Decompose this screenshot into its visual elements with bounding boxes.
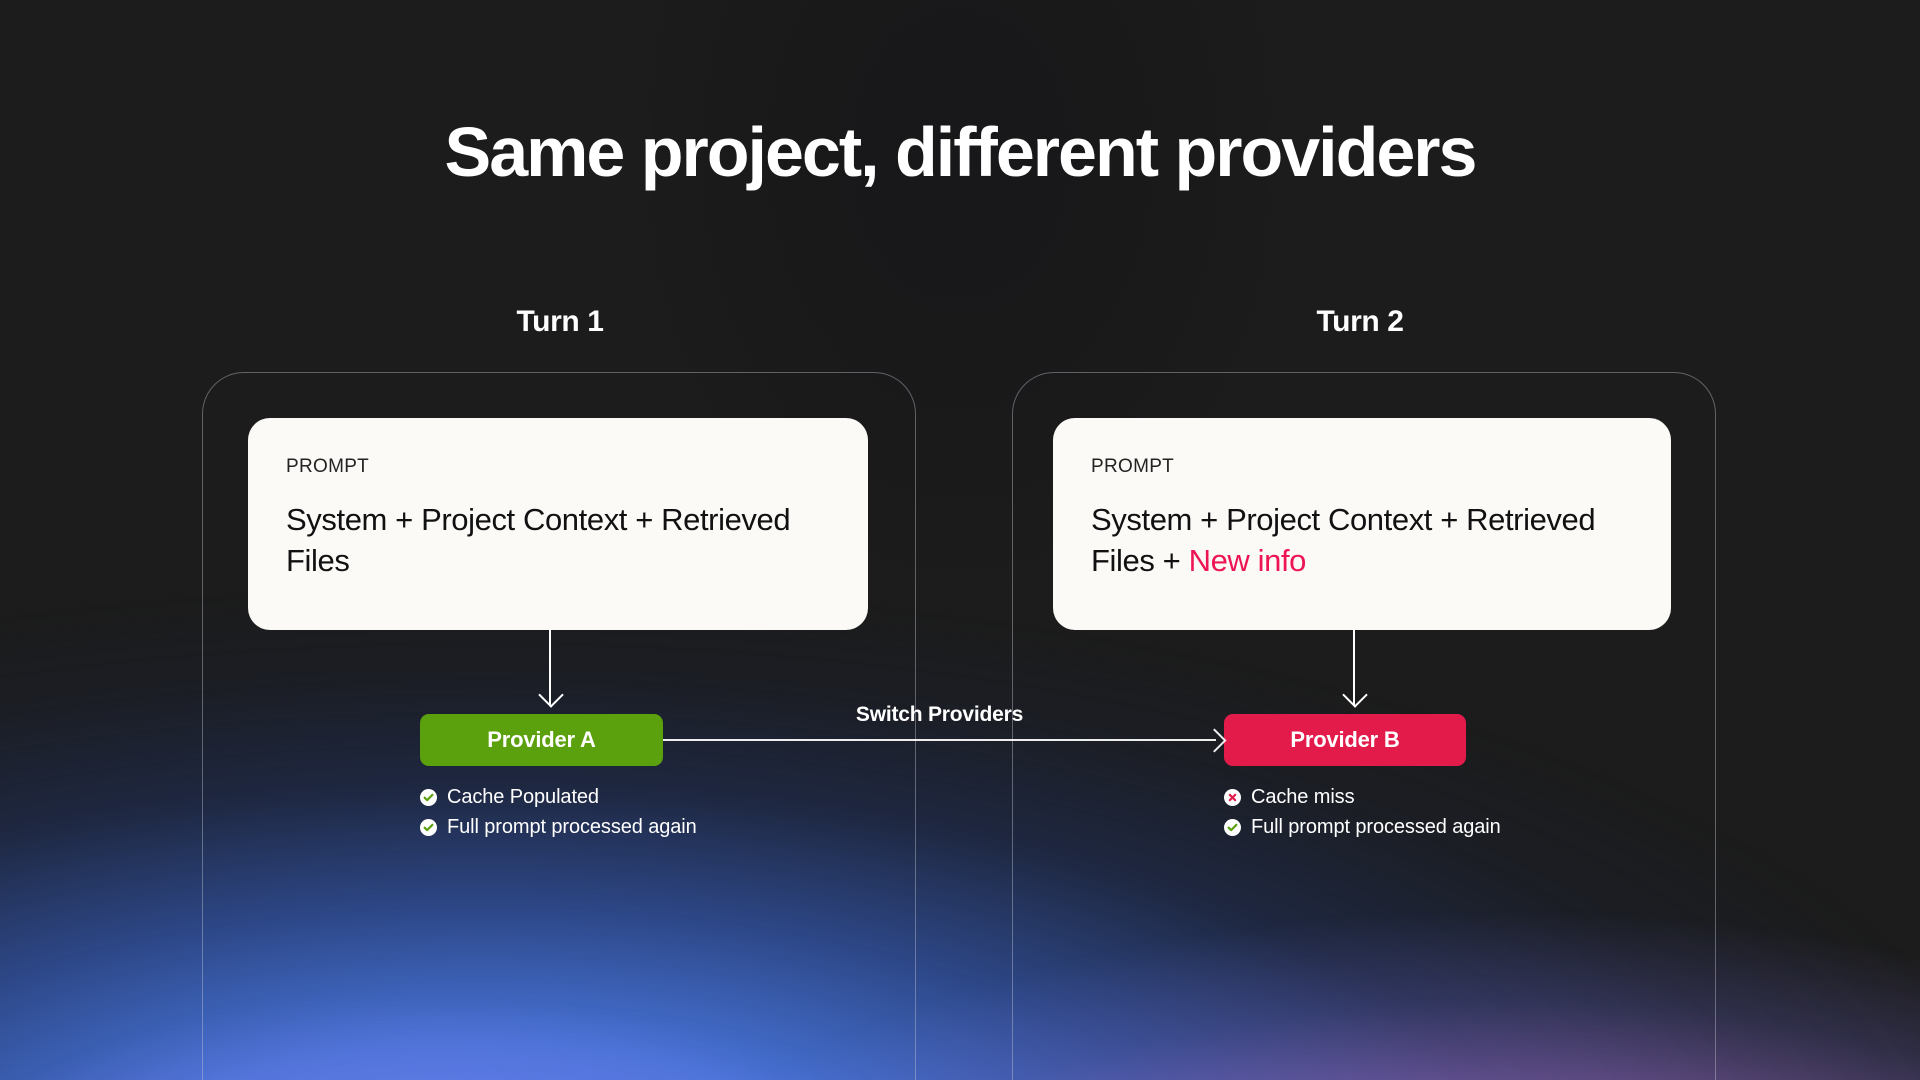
check-item: Full prompt processed again xyxy=(420,816,697,839)
prompt-text-1: System + Project Context + Retrieved Fil… xyxy=(286,500,830,582)
page-title: Same project, different providers xyxy=(0,112,1920,192)
check-item: Full prompt processed again xyxy=(1224,816,1501,839)
switch-providers-line xyxy=(663,739,1216,741)
prompt-card-1: PROMPT System + Project Context + Retrie… xyxy=(248,418,868,630)
prompt-kicker-1: PROMPT xyxy=(286,456,830,478)
check-circle-icon xyxy=(420,819,437,836)
turn-label-1: Turn 1 xyxy=(200,305,920,339)
prompt-kicker-2: PROMPT xyxy=(1091,456,1633,478)
prompt-text-body-1: System + Project Context + Retrieved Fil… xyxy=(286,502,790,578)
provider-b-button[interactable]: Provider B xyxy=(1224,714,1466,766)
check-item: Cache Populated xyxy=(420,786,697,809)
check-circle-icon xyxy=(420,789,437,806)
turn-label-2: Turn 2 xyxy=(1000,305,1720,339)
check-item-label: Cache miss xyxy=(1251,786,1354,809)
prompt-text-highlight-2: New info xyxy=(1189,543,1306,578)
checklist-turn-1: Cache Populated Full prompt processed ag… xyxy=(420,786,697,846)
x-circle-icon xyxy=(1224,789,1241,806)
provider-b-label: Provider B xyxy=(1290,727,1399,753)
check-item-label: Cache Populated xyxy=(447,786,599,809)
check-item-label: Full prompt processed again xyxy=(447,816,697,839)
prompt-text-2: System + Project Context + Retrieved Fil… xyxy=(1091,500,1633,582)
check-item: Cache miss xyxy=(1224,786,1501,809)
provider-a-button[interactable]: Provider A xyxy=(420,714,663,766)
check-circle-icon xyxy=(1224,819,1241,836)
switch-providers-label: Switch Providers xyxy=(663,703,1216,727)
provider-a-label: Provider A xyxy=(487,727,595,753)
check-item-label: Full prompt processed again xyxy=(1251,816,1501,839)
checklist-turn-2: Cache miss Full prompt processed again xyxy=(1224,786,1501,846)
slide-canvas: Same project, different providers Turn 1… xyxy=(0,0,1920,1080)
prompt-card-2: PROMPT System + Project Context + Retrie… xyxy=(1053,418,1671,630)
prompt-text-body-2: System + Project Context + Retrieved Fil… xyxy=(1091,502,1595,578)
